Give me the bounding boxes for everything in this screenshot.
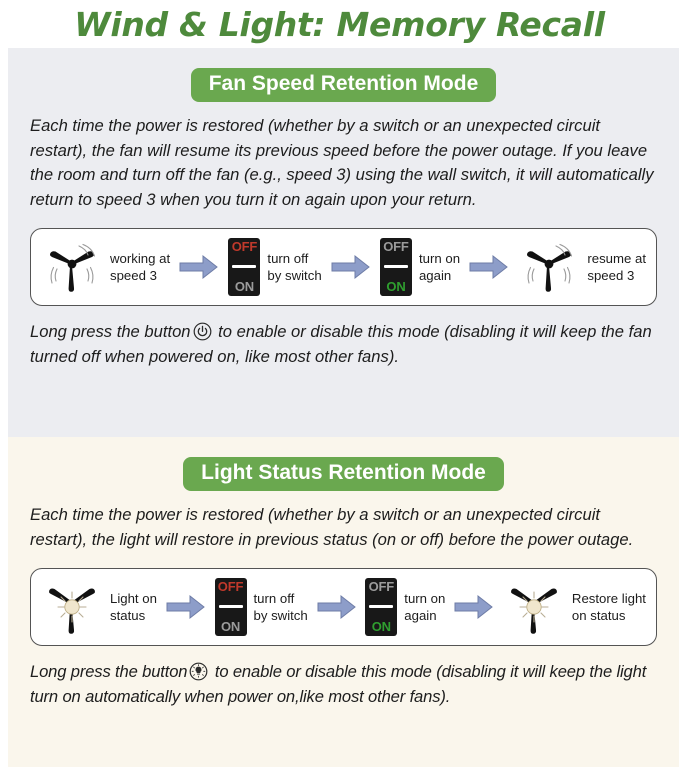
ceiling-fan-spinning-icon <box>41 236 103 298</box>
infographic-page: Wind & Light: Memory Recall Fan Speed Re… <box>0 0 679 767</box>
fan-section-badge: Fan Speed Retention Mode <box>191 68 497 102</box>
ceiling-fan-light-on-icon <box>503 576 565 638</box>
fan-section-paragraph: Each time the power is restored (whether… <box>30 114 657 212</box>
fan-step-2-label: turn offby switch <box>267 250 321 285</box>
fan-speed-retention-panel: Fan Speed Retention Mode Each time the p… <box>8 48 679 437</box>
light-footer-before: Long press the button <box>30 662 187 681</box>
light-step-1: Light onstatus <box>41 576 157 638</box>
rocker-switch-off-icon[interactable]: OFF ON <box>228 238 260 296</box>
fan-step-3-label: turn onagain <box>419 250 460 285</box>
light-section-paragraph: Each time the power is restored (whether… <box>30 503 657 552</box>
switch-on-label: ON <box>372 620 391 633</box>
switch-off-label: OFF <box>369 580 394 593</box>
light-step-4: Restore lighton status <box>503 576 646 638</box>
light-diagram-strip: Light onstatus OFF ON turn offby switch <box>30 568 657 646</box>
light-step-4-label: Restore lighton status <box>572 590 646 625</box>
rocker-switch-on-icon[interactable]: OFF ON <box>380 238 412 296</box>
arrow-right-icon-2 <box>331 254 371 280</box>
light-step-3: OFF ON turn onagain <box>365 578 445 636</box>
switch-off-label: OFF <box>383 240 408 253</box>
switch-on-label: ON <box>235 280 254 293</box>
light-step-3-label: turn onagain <box>404 590 445 625</box>
fan-step-1-label: working atspeed 3 <box>110 250 170 285</box>
light-status-retention-panel: Light Status Retention Mode Each time th… <box>8 437 679 767</box>
fan-section-footer: Long press the button to enable or disab… <box>30 320 657 369</box>
light-section-footer: Long press the button to enable or disab… <box>30 660 657 709</box>
switch-divider <box>369 605 393 608</box>
switch-divider <box>232 265 256 268</box>
ceiling-fan-light-on-icon <box>41 576 103 638</box>
power-button-icon <box>193 322 212 341</box>
arrow-right-icon-6 <box>454 594 494 620</box>
light-step-2-label: turn offby switch <box>254 590 308 625</box>
fan-badge-row: Fan Speed Retention Mode <box>30 68 657 102</box>
switch-on-label: ON <box>386 280 405 293</box>
rocker-switch-on-icon[interactable]: OFF ON <box>365 578 397 636</box>
fan-step-4: resume atspeed 3 <box>518 236 646 298</box>
switch-off-label: OFF <box>218 580 243 593</box>
light-step-1-label: Light onstatus <box>110 590 157 625</box>
arrow-right-icon-5 <box>317 594 357 620</box>
rocker-switch-off-icon[interactable]: OFF ON <box>215 578 247 636</box>
fan-step-4-label: resume atspeed 3 <box>587 250 646 285</box>
arrow-right-icon-4 <box>166 594 206 620</box>
light-button-icon <box>189 662 208 681</box>
fan-step-3: OFF ON turn onagain <box>380 238 460 296</box>
fan-step-2: OFF ON turn offby switch <box>228 238 321 296</box>
switch-divider <box>384 265 408 268</box>
light-section-badge: Light Status Retention Mode <box>183 457 504 491</box>
page-title-bar: Wind & Light: Memory Recall <box>0 0 679 48</box>
fan-diagram-strip: working atspeed 3 OFF ON turn offby swit… <box>30 228 657 306</box>
switch-off-label: OFF <box>232 240 257 253</box>
arrow-right-icon-1 <box>179 254 219 280</box>
light-badge-row: Light Status Retention Mode <box>30 457 657 491</box>
switch-on-label: ON <box>221 620 240 633</box>
page-title: Wind & Light: Memory Recall <box>74 5 605 44</box>
arrow-right-icon-3 <box>469 254 509 280</box>
ceiling-fan-spinning-icon <box>518 236 580 298</box>
switch-divider <box>219 605 243 608</box>
fan-step-1: working atspeed 3 <box>41 236 170 298</box>
fan-footer-before: Long press the button <box>30 322 191 341</box>
light-step-2: OFF ON turn offby switch <box>215 578 308 636</box>
